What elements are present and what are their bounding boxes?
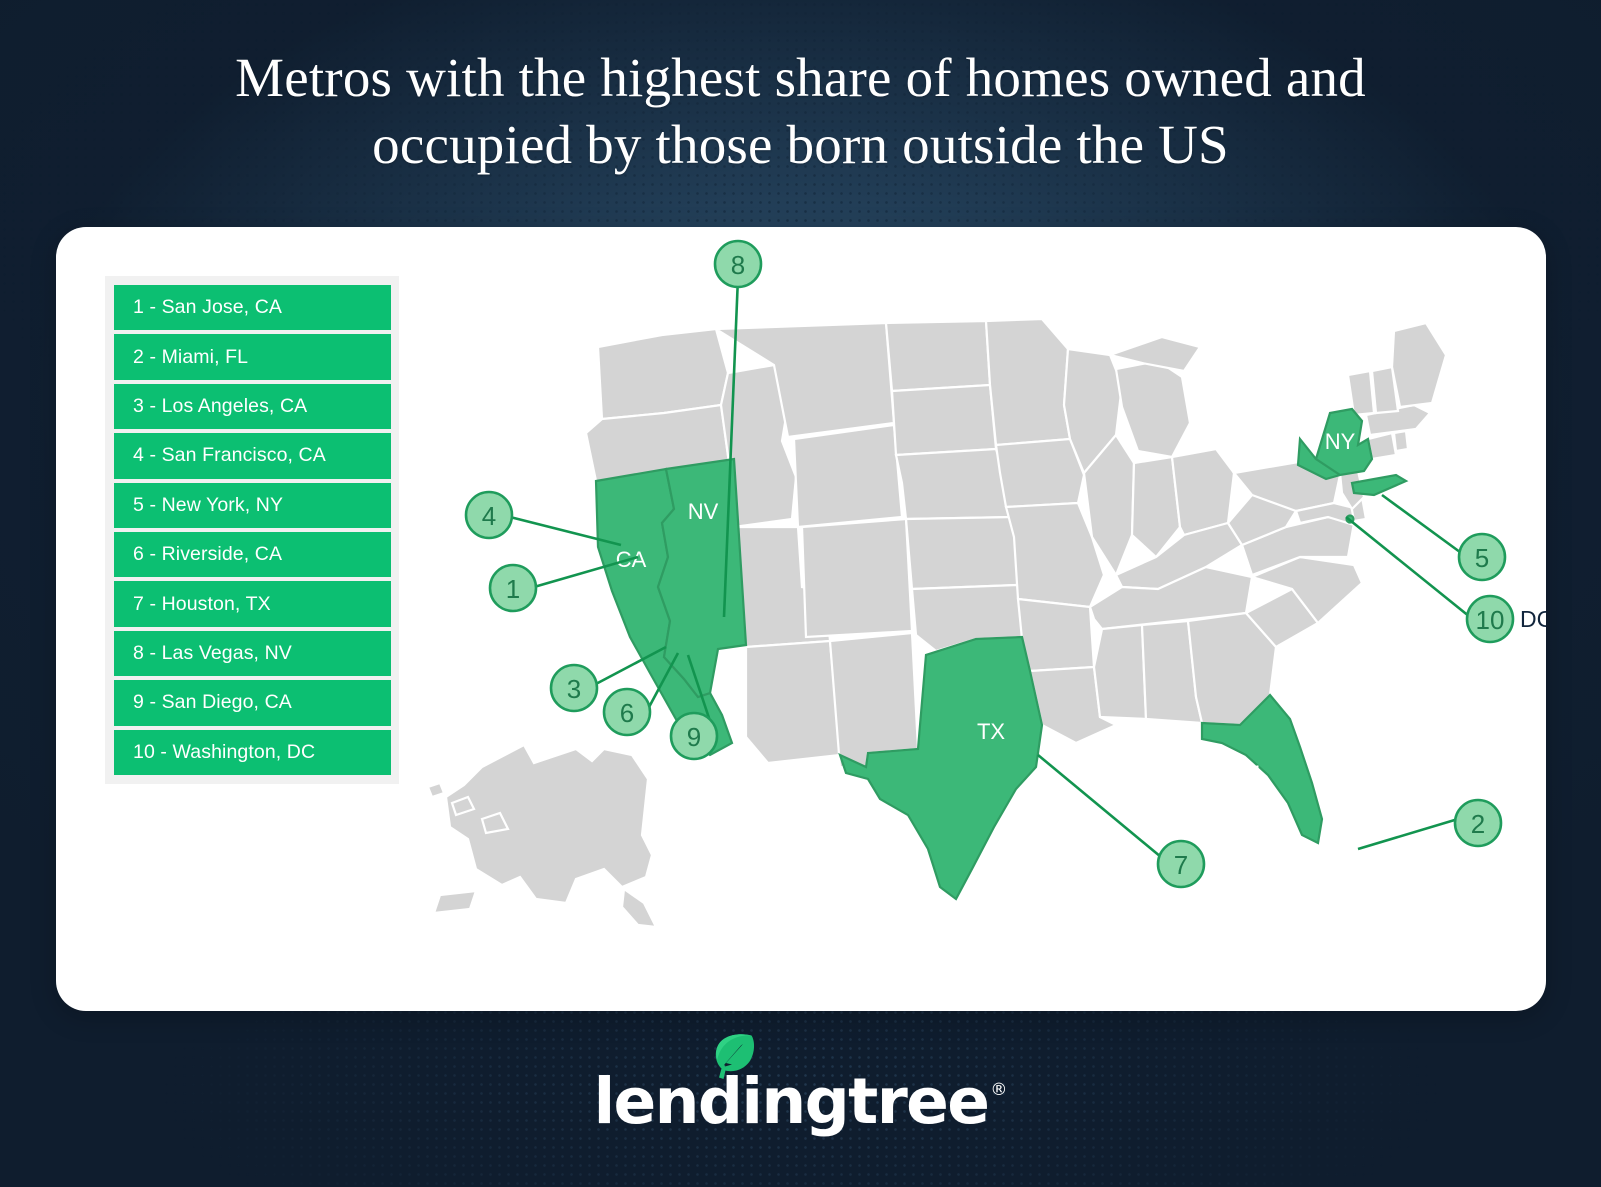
marker-number-9: 9 [687,722,701,752]
legend-item-10[interactable]: 10 - Washington, DC [114,730,391,775]
map-marker-4[interactable]: 4 [466,492,512,538]
legend-panel: 1 - San Jose, CA 2 - Miami, FL 3 - Los A… [105,276,399,784]
state-label-FL: FL [1241,761,1267,786]
leader-line-7 [1038,755,1161,857]
legend-item-2[interactable]: 2 - Miami, FL [114,334,391,379]
map-marker-5[interactable]: 5 [1459,534,1505,580]
marker-number-3: 3 [567,674,581,704]
map-marker-9[interactable]: 9 [671,713,717,759]
logo-brand-text: lendingtree [594,1065,989,1138]
page-title-line-2: occupied by those born outside the US [0,111,1601,178]
marker-number-10: 10 [1476,605,1505,635]
state-MI[interactable] [1116,361,1190,457]
state-AR[interactable] [1018,599,1094,671]
state-label-TX: TX [977,719,1005,744]
marker-number-5: 5 [1475,543,1489,573]
state-SD[interactable] [892,385,996,455]
state-WY[interactable] [794,425,902,527]
state-MS[interactable] [1094,625,1146,719]
state-IA[interactable] [996,439,1084,507]
state-ND[interactable] [886,321,990,391]
map-states-noncontiguous [428,745,656,927]
logo-trademark: ® [990,1080,1007,1100]
state-MN[interactable] [986,319,1070,445]
map-marker-6[interactable]: 6 [604,689,650,735]
state-CO[interactable] [802,519,912,637]
state-KS[interactable] [906,517,1018,589]
legend-list: 1 - San Jose, CA 2 - Miami, FL 3 - Los A… [114,285,391,775]
state-OH[interactable] [1172,449,1234,535]
marker-number-4: 4 [482,501,496,531]
state-MI-up[interactable] [1110,337,1200,371]
map-marker-10[interactable]: 10 [1467,596,1513,642]
leaf-icon [710,1032,756,1082]
leader-line-10 [1346,517,1470,617]
map-card: 1 - San Jose, CA 2 - Miami, FL 3 - Los A… [56,227,1546,1011]
legend-item-9[interactable]: 9 - San Diego, CA [114,680,391,725]
legend-item-6[interactable]: 6 - Riverside, CA [114,532,391,577]
legend-item-4[interactable]: 4 - San Francisco, CA [114,433,391,478]
page-title: Metros with the highest share of homes o… [0,44,1601,178]
state-WA[interactable] [598,329,728,419]
map-marker-7[interactable]: 7 [1158,841,1204,887]
leader-line-2 [1358,819,1458,849]
lendingtree-logo: lendingtree ® [0,1070,1601,1134]
state-NV[interactable] [658,459,746,697]
marker-number-2: 2 [1471,809,1485,839]
state-AK[interactable] [434,745,656,927]
marker-number-7: 7 [1174,850,1188,880]
marker-number-1: 1 [506,574,520,604]
marker-number-8: 8 [731,250,745,280]
legend-item-1[interactable]: 1 - San Jose, CA [114,285,391,330]
page-title-line-1: Metros with the highest share of homes o… [0,44,1601,111]
map-marker-1[interactable]: 1 [490,565,536,611]
state-NM[interactable] [830,633,918,767]
map-marker-2[interactable]: 2 [1455,800,1501,846]
state-ME[interactable] [1392,323,1446,407]
state-NE[interactable] [896,449,1014,519]
marker-number-6: 6 [620,698,634,728]
legend-item-7[interactable]: 7 - Houston, TX [114,581,391,626]
legend-item-3[interactable]: 3 - Los Angeles, CA [114,384,391,429]
legend-item-5[interactable]: 5 - New York, NY [114,483,391,528]
state-AZ[interactable] [746,641,840,763]
logo-wordmark: lendingtree [594,1070,989,1134]
state-label-NV: NV [688,499,719,524]
us-map: CA NV TX FL NY [416,227,1546,1011]
state-RI[interactable] [1394,431,1408,451]
leader-line-5 [1382,495,1464,555]
state-label-NY: NY [1325,429,1356,454]
map-marker-3[interactable]: 3 [551,665,597,711]
legend-item-8[interactable]: 8 - Las Vegas, NV [114,631,391,676]
dc-label: DC [1520,606,1546,632]
map-marker-8[interactable]: 8 [715,241,761,287]
